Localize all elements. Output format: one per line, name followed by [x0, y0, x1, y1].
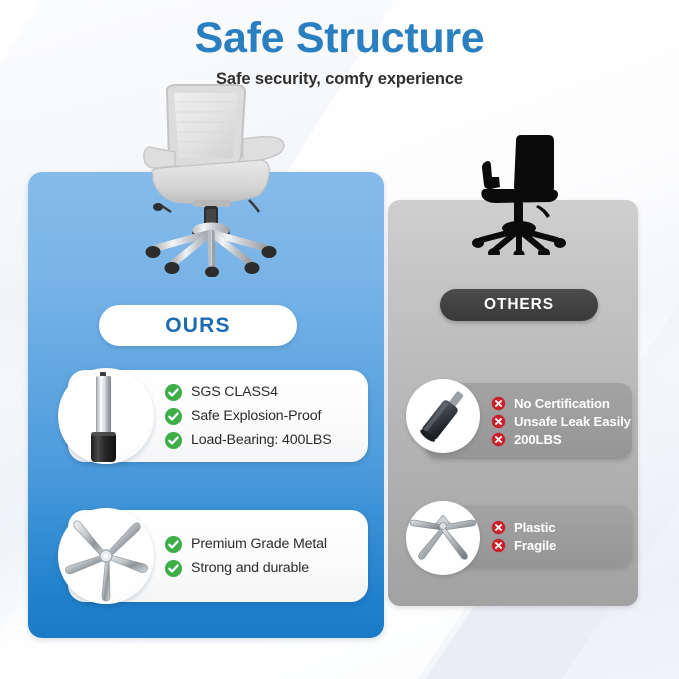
- check-circle-icon: [164, 535, 183, 554]
- check-circle-icon: [164, 559, 183, 578]
- infographic-page: Safe Structure Safe security, comfy expe…: [0, 0, 679, 679]
- feature-row: Unsafe Leak Easily: [491, 414, 631, 429]
- cross-circle-icon: [491, 432, 506, 447]
- feature-list: No Certification Unsafe Leak Easily 200L…: [491, 383, 631, 459]
- gas-lift-cylinder-dark-icon: [406, 379, 480, 453]
- cross-circle-icon: [491, 520, 506, 535]
- check-circle-icon: [164, 431, 183, 450]
- feature-list: Premium Grade Metal Strong and durable: [164, 510, 327, 602]
- feature-list: Plastic Fragile: [491, 505, 556, 567]
- page-subtitle: Safe security, comfy experience: [0, 63, 679, 89]
- five-star-base-chrome-icon: [58, 508, 154, 604]
- feature-row: Safe Explosion-Proof: [164, 407, 332, 426]
- feature-label: Safe Explosion-Proof: [191, 408, 321, 424]
- office-chair-black-silhouette-icon: [466, 133, 576, 255]
- cross-circle-icon: [491, 396, 506, 411]
- header: Safe Structure Safe security, comfy expe…: [0, 0, 679, 89]
- feature-row: 200LBS: [491, 432, 631, 447]
- feature-row: Load-Bearing: 400LBS: [164, 431, 332, 450]
- feature-label: SGS CLASS4: [191, 384, 278, 400]
- check-circle-icon: [164, 407, 183, 426]
- feature-row: Strong and durable: [164, 559, 327, 578]
- gas-lift-cylinder-chrome-icon: [58, 368, 154, 464]
- feature-row: No Certification: [491, 396, 631, 411]
- ours-badge-label: OURS: [165, 314, 230, 338]
- feature-label: Unsafe Leak Easily: [514, 414, 631, 429]
- feature-row: Premium Grade Metal: [164, 535, 327, 554]
- feature-label: Strong and durable: [191, 560, 309, 576]
- feature-list: SGS CLASS4 Safe Explosion-Proof Load-Bea…: [164, 370, 332, 462]
- others-badge-label: OTHERS: [484, 296, 554, 314]
- feature-row: Plastic: [491, 520, 556, 535]
- feature-row: Fragile: [491, 538, 556, 553]
- feature-label: Plastic: [514, 520, 555, 535]
- feature-label: 200LBS: [514, 432, 561, 447]
- office-chair-gray-mesh-icon: [131, 82, 293, 277]
- cross-circle-icon: [491, 538, 506, 553]
- page-title: Safe Structure: [0, 0, 679, 63]
- ours-badge: OURS: [99, 305, 297, 346]
- feature-label: Load-Bearing: 400LBS: [191, 432, 332, 448]
- feature-label: No Certification: [514, 396, 610, 411]
- feature-label: Premium Grade Metal: [191, 536, 327, 552]
- cross-circle-icon: [491, 414, 506, 429]
- feature-row: SGS CLASS4: [164, 383, 332, 402]
- feature-label: Fragile: [514, 538, 556, 553]
- others-badge: OTHERS: [440, 289, 598, 321]
- check-circle-icon: [164, 383, 183, 402]
- five-star-base-plastic-icon: [406, 501, 480, 575]
